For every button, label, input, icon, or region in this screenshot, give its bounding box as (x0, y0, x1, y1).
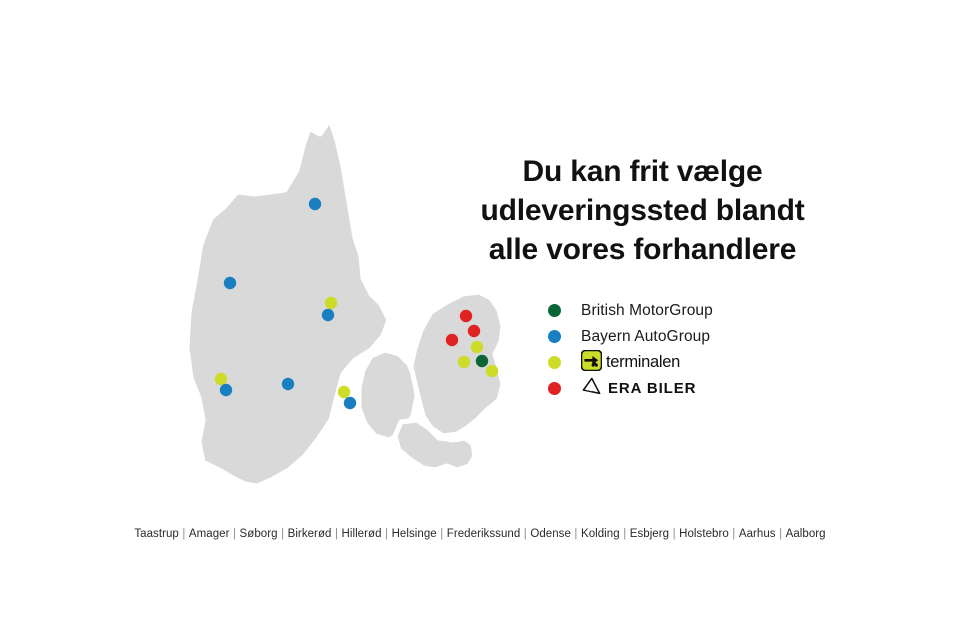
city-separator: | (279, 528, 287, 540)
map-marker[interactable] (476, 355, 488, 367)
headline-line-2: udleveringssted blandt (455, 191, 830, 230)
legend-label-bayern-autogroup: Bayern AutoGroup (581, 328, 710, 346)
map-marker[interactable] (458, 356, 470, 368)
map-marker[interactable] (309, 198, 321, 210)
city-name: Taastrup (133, 528, 180, 540)
legend-label-british-motorgroup: British MotorGroup (581, 302, 713, 320)
city-name: Aarhus (738, 528, 777, 540)
map-marker[interactable] (325, 297, 337, 309)
map-region-jutland (187, 100, 389, 486)
legend-dot-red (548, 382, 561, 395)
map-marker[interactable] (471, 341, 483, 353)
city-separator: | (730, 528, 738, 540)
city-separator: | (438, 528, 446, 540)
city-name: Esbjerg (629, 528, 670, 540)
map-marker[interactable] (468, 325, 480, 337)
city-separator: | (572, 528, 580, 540)
terminalen-brand: terminalen (581, 350, 680, 376)
legend-dot-yellow (548, 356, 561, 369)
map-marker[interactable] (460, 310, 472, 322)
city-separator: | (670, 528, 678, 540)
legend-label-era-biler: ERA BILER (608, 380, 696, 397)
promo-graphic: Du kan frit vælge udleveringssted blandt… (0, 0, 960, 640)
legend-dot-blue (548, 330, 561, 343)
city-separator: | (231, 528, 239, 540)
city-separator: | (777, 528, 785, 540)
era-biler-brand: ERA BILER (581, 377, 696, 401)
map-marker[interactable] (338, 386, 350, 398)
legend-dot-green (548, 304, 561, 317)
map-marker[interactable] (322, 309, 334, 321)
map-marker[interactable] (282, 378, 294, 390)
legend-item-terminalen[interactable]: terminalen (548, 350, 868, 375)
city-separator: | (383, 528, 391, 540)
city-name: Kolding (580, 528, 621, 540)
city-name: Hillerød (341, 528, 383, 540)
terminalen-logo-icon (581, 350, 602, 376)
brand-legend: British MotorGroup Bayern AutoGroup te (548, 298, 868, 402)
city-separator: | (332, 528, 340, 540)
legend-item-british-motorgroup[interactable]: British MotorGroup (548, 298, 868, 323)
legend-label-terminalen: terminalen (606, 353, 680, 372)
headline-line-3: alle vores forhandlere (455, 230, 830, 269)
era-biler-logo-icon (581, 377, 604, 401)
city-name: Frederikssund (446, 528, 522, 540)
map-marker[interactable] (446, 334, 458, 346)
city-name: Aalborg (785, 528, 827, 540)
city-name: Odense (529, 528, 572, 540)
city-name: Helsinge (391, 528, 438, 540)
map-marker[interactable] (224, 277, 236, 289)
map-marker[interactable] (344, 397, 356, 409)
headline-line-1: Du kan frit vælge (455, 152, 830, 191)
city-list: Taastrup|Amager|Søborg|Birkerød|Hillerød… (0, 528, 960, 540)
page-title: Du kan frit vælge udleveringssted blandt… (455, 152, 830, 269)
city-name: Birkerød (287, 528, 333, 540)
legend-item-era-biler[interactable]: ERA BILER (548, 376, 868, 401)
map-marker[interactable] (220, 384, 232, 396)
map-region-zealand (411, 292, 503, 436)
city-separator: | (180, 528, 188, 540)
map-marker[interactable] (215, 373, 227, 385)
city-name: Amager (188, 528, 231, 540)
map-marker[interactable] (486, 365, 498, 377)
city-separator: | (621, 528, 629, 540)
city-name: Holstebro (678, 528, 730, 540)
city-name: Søborg (239, 528, 279, 540)
legend-item-bayern-autogroup[interactable]: Bayern AutoGroup (548, 324, 868, 349)
